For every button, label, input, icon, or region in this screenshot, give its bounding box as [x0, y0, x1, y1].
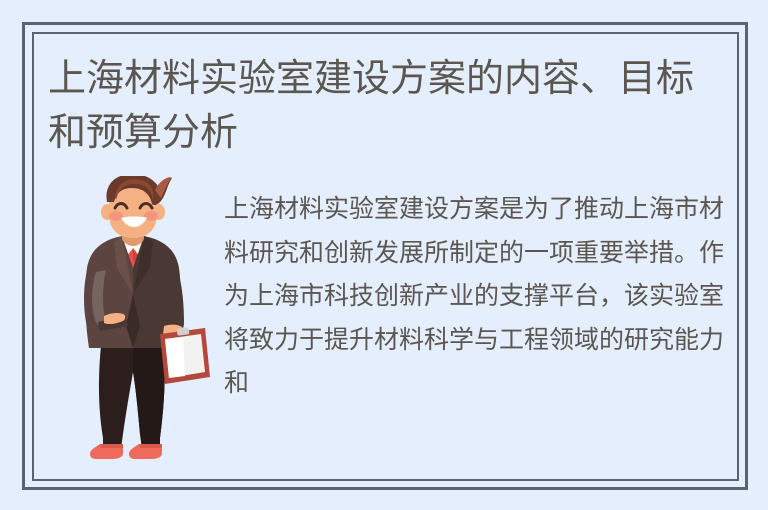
poster-canvas: 上海材料实验室建设方案的内容、目标和预算分析 — [0, 0, 768, 510]
body-paragraph: 上海材料实验室建设方案是为了推动上海市材料研究和创新发展所制定的一项重要举措。作… — [224, 188, 734, 406]
left-cheek — [109, 211, 123, 221]
clipboard — [160, 327, 210, 384]
right-shoe-shade — [139, 444, 162, 448]
poster-content: 上海材料实验室建设方案的内容、目标和预算分析 — [0, 0, 768, 510]
left-shoe-shade — [100, 444, 123, 448]
clipboard-clip — [177, 327, 190, 335]
right-cheek — [144, 211, 158, 221]
businessman-illustration — [60, 176, 210, 468]
page-title: 上海材料实验室建设方案的内容、目标和预算分析 — [48, 52, 728, 160]
trousers-shadow — [133, 346, 165, 448]
